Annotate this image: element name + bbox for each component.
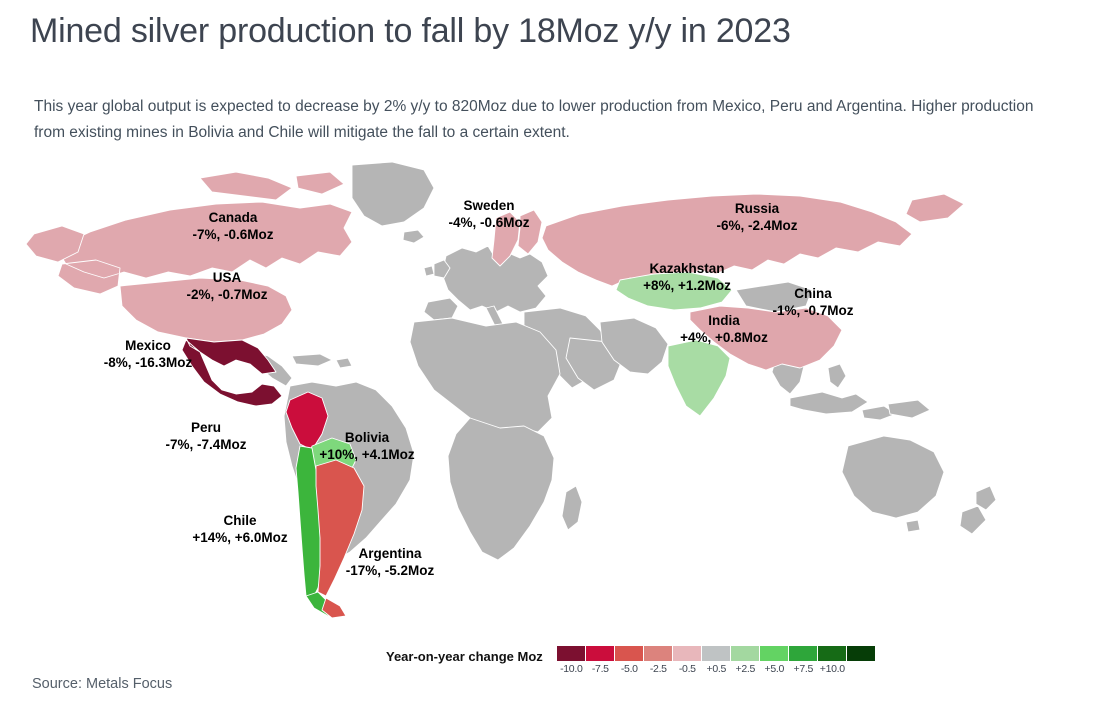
legend-tick-4: -0.5	[673, 663, 702, 675]
legend-tick-0: -10.0	[557, 663, 586, 675]
legend-swatch-2	[615, 646, 643, 661]
legend-swatch-9	[818, 646, 846, 661]
legend-title: Year-on-year change Moz	[386, 649, 543, 664]
page-subtitle: This year global output is expected to d…	[34, 94, 1044, 146]
map-country-mexico	[182, 338, 282, 406]
map-country-india	[668, 340, 730, 416]
legend-tick-7: +5.0	[760, 663, 789, 675]
page-title: Mined silver production to fall by 18Moz…	[30, 12, 791, 51]
map-country-russia	[542, 194, 912, 286]
map-country-canada-arctic	[200, 172, 292, 200]
legend-swatch-1	[586, 646, 614, 661]
legend-swatch-10	[847, 646, 875, 661]
legend-tick-8: +7.5	[789, 663, 818, 675]
source-note: Source: Metals Focus	[32, 676, 172, 692]
legend-swatch-3	[644, 646, 672, 661]
legend-swatches	[557, 646, 876, 661]
world-map	[0, 160, 1104, 640]
legend-swatch-4	[673, 646, 701, 661]
legend-tick-2: -5.0	[615, 663, 644, 675]
legend-colorbar: -10.0-7.5-5.0-2.5-0.5+0.5+2.5+5.0+7.5+10…	[557, 646, 876, 675]
legend-tick-6: +2.5	[731, 663, 760, 675]
legend-swatch-5	[702, 646, 730, 661]
legend: Year-on-year change Moz -10.0-7.5-5.0-2.…	[386, 646, 876, 675]
map-country-usa	[120, 278, 292, 342]
legend-tick-5: +0.5	[702, 663, 731, 675]
legend-swatch-0	[557, 646, 585, 661]
legend-tick-3: -2.5	[644, 663, 673, 675]
legend-tick-9: +10.0	[818, 663, 847, 675]
legend-ticks: -10.0-7.5-5.0-2.5-0.5+0.5+2.5+5.0+7.5+10…	[557, 663, 876, 675]
map-country-kazakhstan	[616, 272, 732, 310]
legend-swatch-6	[731, 646, 759, 661]
legend-swatch-8	[789, 646, 817, 661]
legend-tick-1: -7.5	[586, 663, 615, 675]
legend-swatch-7	[760, 646, 788, 661]
